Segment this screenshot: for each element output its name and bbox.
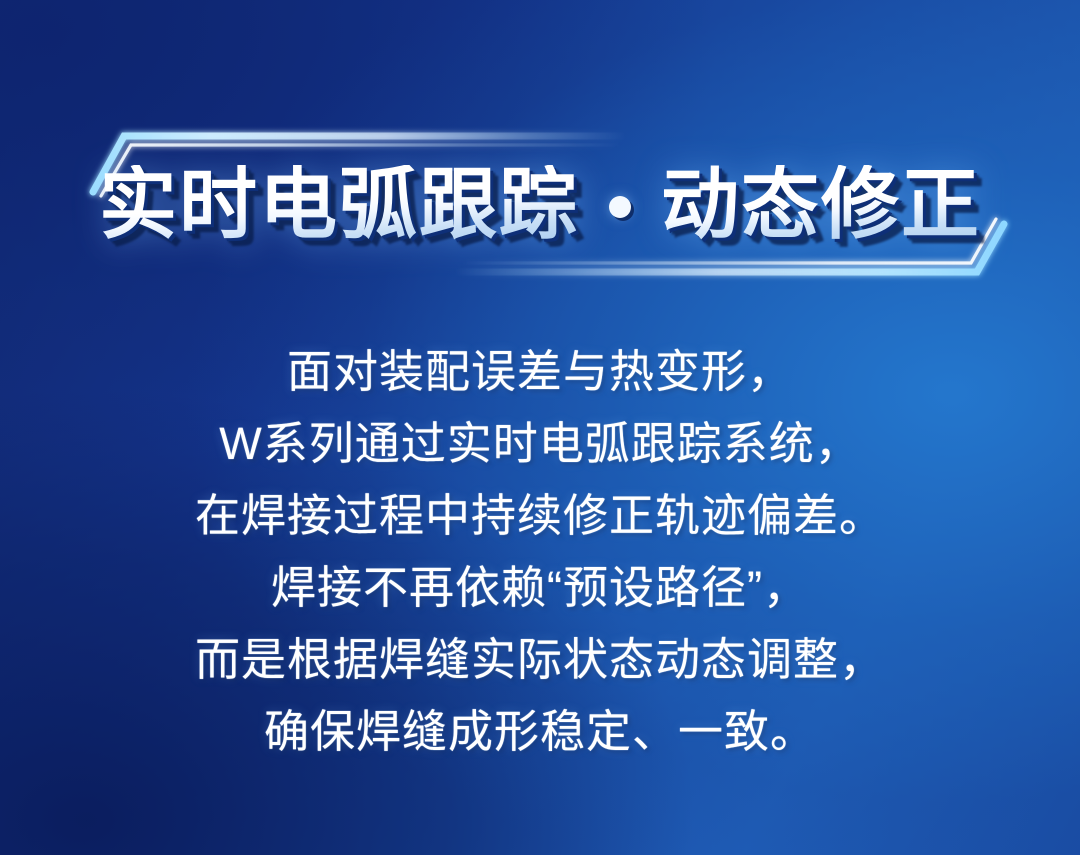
- body-line: 焊接不再依赖“预设路径”，: [0, 552, 1080, 624]
- body-line: 而是根据焊缝实际状态动态调整，: [0, 624, 1080, 696]
- body-line: 确保焊缝成形稳定、一致。: [0, 696, 1080, 768]
- body-paragraph: 面对装配误差与热变形， W系列通过实时电弧跟踪系统， 在焊接过程中持续修正轨迹偏…: [0, 336, 1080, 768]
- body-line: W系列通过实时电弧跟踪系统，: [0, 408, 1080, 480]
- body-line: 面对装配误差与热变形，: [0, 336, 1080, 408]
- title-separator-dot-icon: [609, 196, 631, 218]
- body-line: 在焊接过程中持续修正轨迹偏差。: [0, 480, 1080, 552]
- page-title: 实时电弧跟踪 动态修正: [0, 148, 1080, 260]
- title-left-text: 实时电弧跟踪: [99, 165, 579, 243]
- title-right-text: 动态修正: [661, 165, 981, 243]
- poster-root: 实时电弧跟踪 动态修正 面对装配误差与热变形， W系列通过实时电弧跟踪系统， 在…: [0, 0, 1080, 855]
